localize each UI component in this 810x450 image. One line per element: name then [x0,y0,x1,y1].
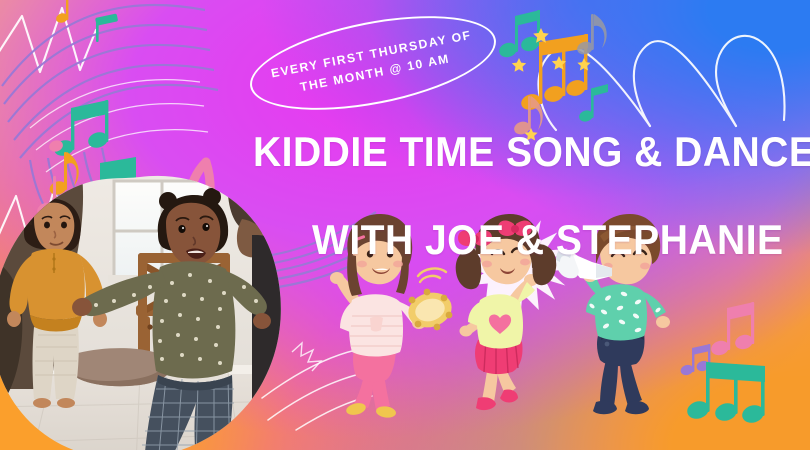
title-line-1: KIDDIE TIME SONG & DANCE [253,128,810,176]
title-line-2: WITH JOE & STEPHANIE [312,216,784,264]
photo-content [0,175,300,450]
poster-canvas: EVERY FIRST THURSDAY OF THE MONTH @ 10 A… [0,0,810,450]
photo-blob [0,175,300,450]
